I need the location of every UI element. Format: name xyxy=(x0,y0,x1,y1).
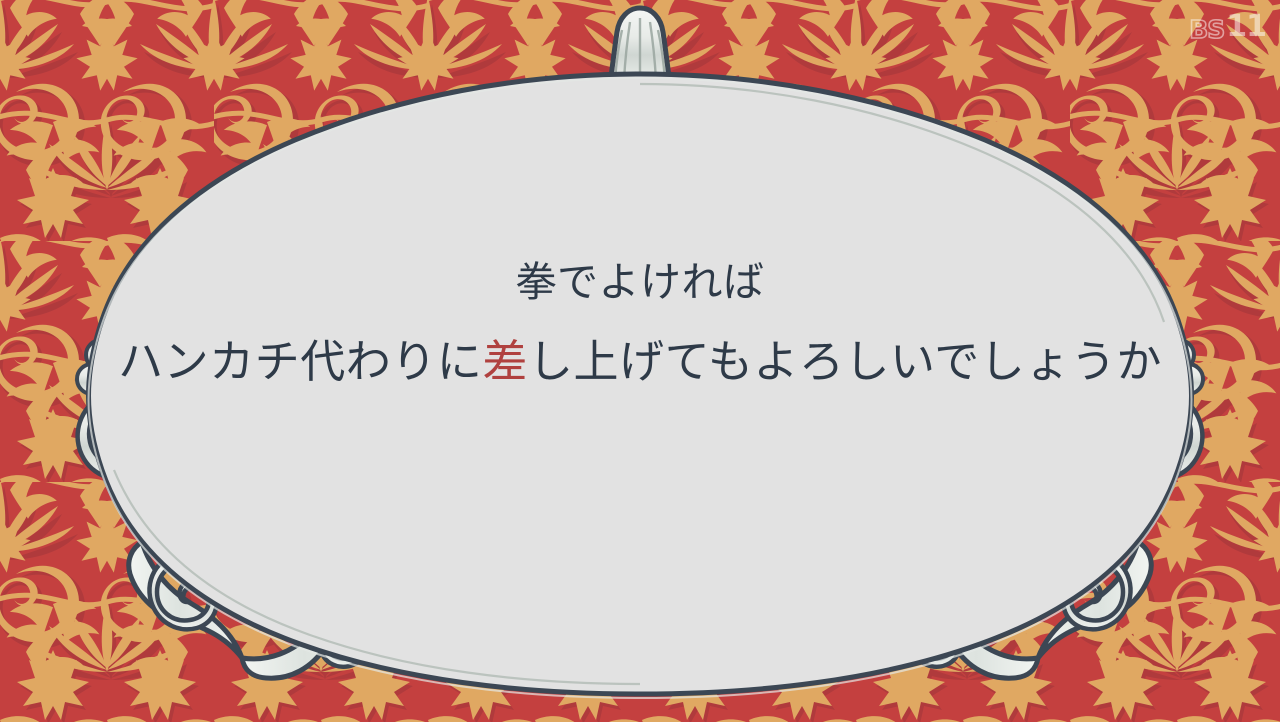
rococo-cartouche-frame xyxy=(0,0,1280,722)
eyecatch-card: 拳でよければ ハンカチ代わりに差し上げてもよろしいでしょうか BS 11 xyxy=(0,0,1280,722)
